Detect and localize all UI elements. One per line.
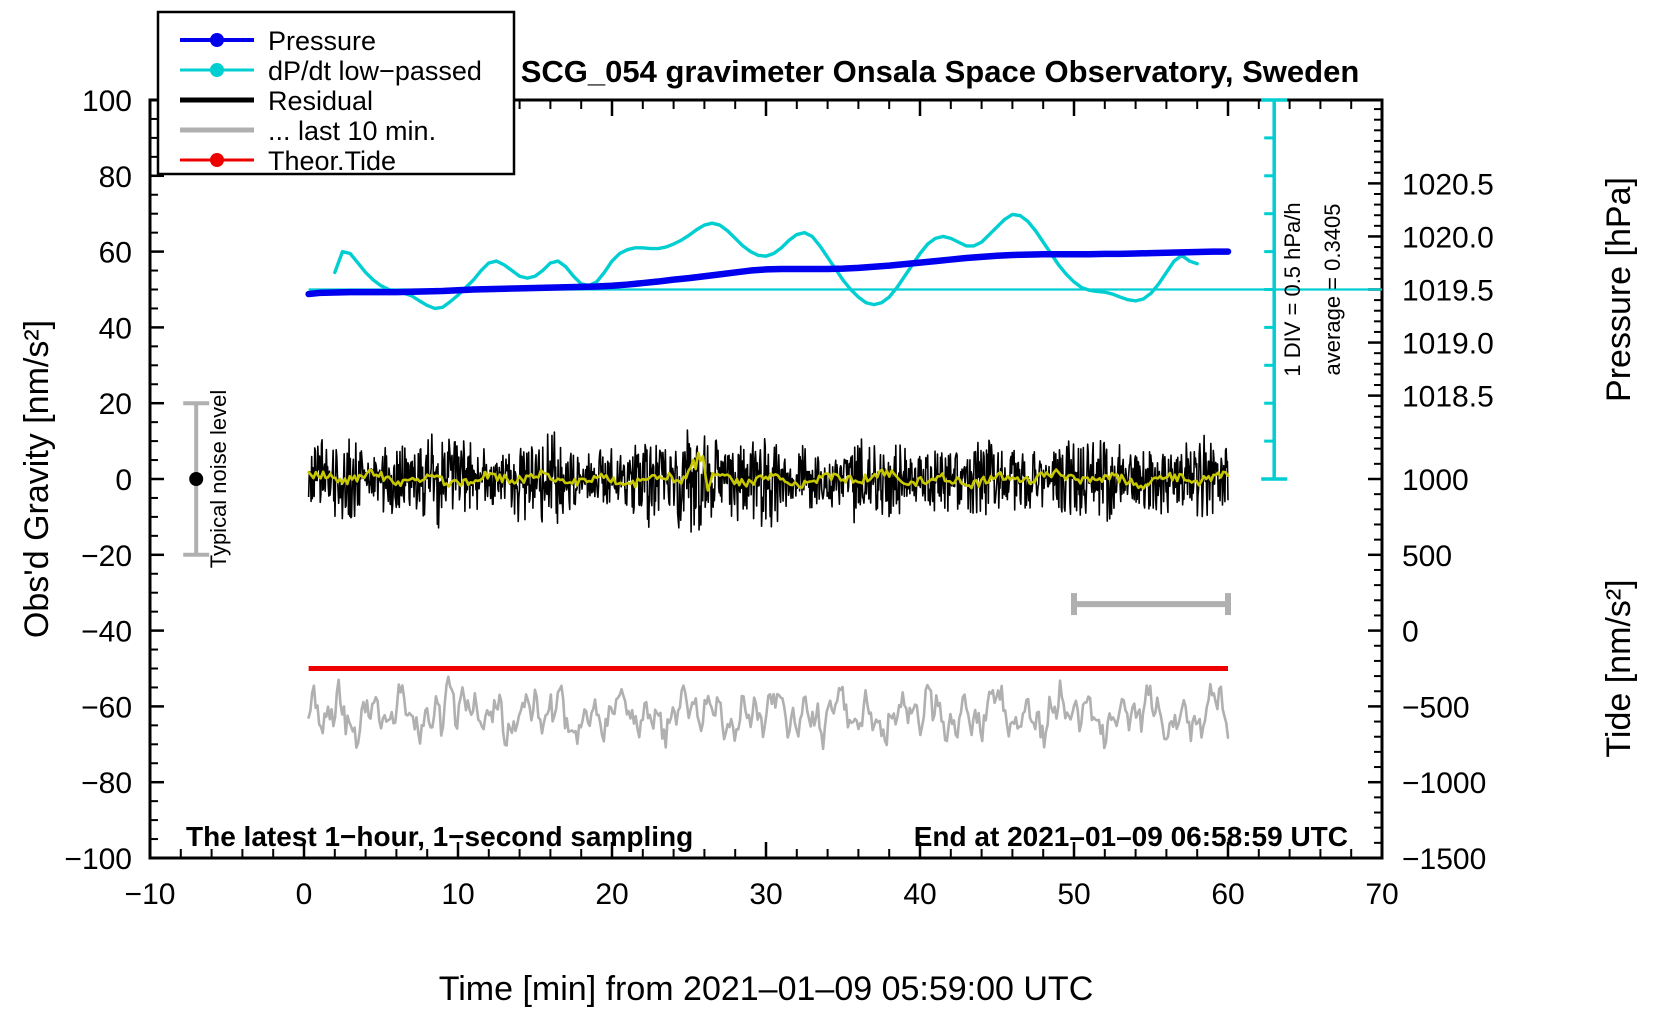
y-tick-label: 100 xyxy=(82,85,132,118)
legend-entry-label: Theor.Tide xyxy=(268,146,396,176)
pressure-tick-label: 1020.0 xyxy=(1402,221,1494,254)
noise-center-dot xyxy=(189,472,203,486)
x-tick-label: 70 xyxy=(1365,878,1398,911)
dpdt-div-label: 1 DIV = 0.5 hPa/h xyxy=(1280,202,1305,376)
pressure-tick-label: 1020.5 xyxy=(1402,168,1494,201)
pressure-tick-label: 1018.5 xyxy=(1402,381,1494,414)
tide-tick-label: −1500 xyxy=(1402,843,1486,876)
y-tick-label: 20 xyxy=(99,388,132,421)
tide-tick-label: 0 xyxy=(1402,616,1419,649)
x-tick-label: 20 xyxy=(595,878,628,911)
x-tick-label: 60 xyxy=(1211,878,1244,911)
bottom-left-annotation: The latest 1−hour, 1−second sampling xyxy=(186,821,693,852)
chart-title: SCG_054 gravimeter Onsala Space Observat… xyxy=(521,54,1360,89)
x-axis-title: Time [min] from 2021–01–09 05:59:00 UTC xyxy=(439,970,1094,1008)
y-tick-label: −20 xyxy=(81,540,132,573)
legend-group: PressuredP/dt low−passedResidual... last… xyxy=(158,12,514,176)
x-tick-label: −10 xyxy=(125,878,176,911)
legend-entry-label: dP/dt low−passed xyxy=(268,56,482,86)
tide-tick-label: 1000 xyxy=(1402,464,1469,497)
tide-tick-label: −1000 xyxy=(1402,767,1486,800)
chart-root: −100−80−60−40−20020406080100Obs'd Gravit… xyxy=(0,0,1660,1020)
bottom-right-annotation: End at 2021–01–09 06:58:59 UTC xyxy=(914,821,1348,852)
legend-swatch-marker xyxy=(210,153,224,167)
tide-tick-label: −500 xyxy=(1402,691,1470,724)
y-tick-label: −80 xyxy=(81,767,132,800)
x-tick-label: 10 xyxy=(441,878,474,911)
legend-swatch-marker xyxy=(210,33,224,47)
pressure-tick-label: 1019.5 xyxy=(1402,275,1494,308)
y-tick-label: 0 xyxy=(115,464,132,497)
tide-tick-label: 500 xyxy=(1402,540,1452,573)
y-axis-title: Obs'd Gravity [nm/s²] xyxy=(18,320,56,638)
y-tick-label: 80 xyxy=(99,161,132,194)
legend-entry-label: Residual xyxy=(268,86,373,116)
tide-axis-title: Tide [nm/s²] xyxy=(1600,579,1638,757)
x-tick-label: 0 xyxy=(296,878,313,911)
x-tick-label: 50 xyxy=(1057,878,1090,911)
x-tick-label: 30 xyxy=(749,878,782,911)
y-tick-label: −40 xyxy=(81,616,132,649)
legend-swatch-marker xyxy=(210,63,224,77)
y-tick-label: 60 xyxy=(99,237,132,270)
y-tick-label: 40 xyxy=(99,312,132,345)
legend-entry-label: ... last 10 min. xyxy=(268,116,436,146)
gravimeter-chart: −100−80−60−40−20020406080100Obs'd Gravit… xyxy=(0,0,1660,1020)
x-tick-label: 40 xyxy=(903,878,936,911)
noise-level-label: Typical noise level xyxy=(206,390,231,569)
pressure-axis-title: Pressure [hPa] xyxy=(1600,177,1638,402)
legend-entry-label: Pressure xyxy=(268,26,376,56)
y-tick-label: −60 xyxy=(81,691,132,724)
pressure-tick-label: 1019.0 xyxy=(1402,328,1494,361)
dpdt-average-label: average = 0.3405 xyxy=(1320,204,1345,376)
y-tick-label: −100 xyxy=(64,843,132,876)
